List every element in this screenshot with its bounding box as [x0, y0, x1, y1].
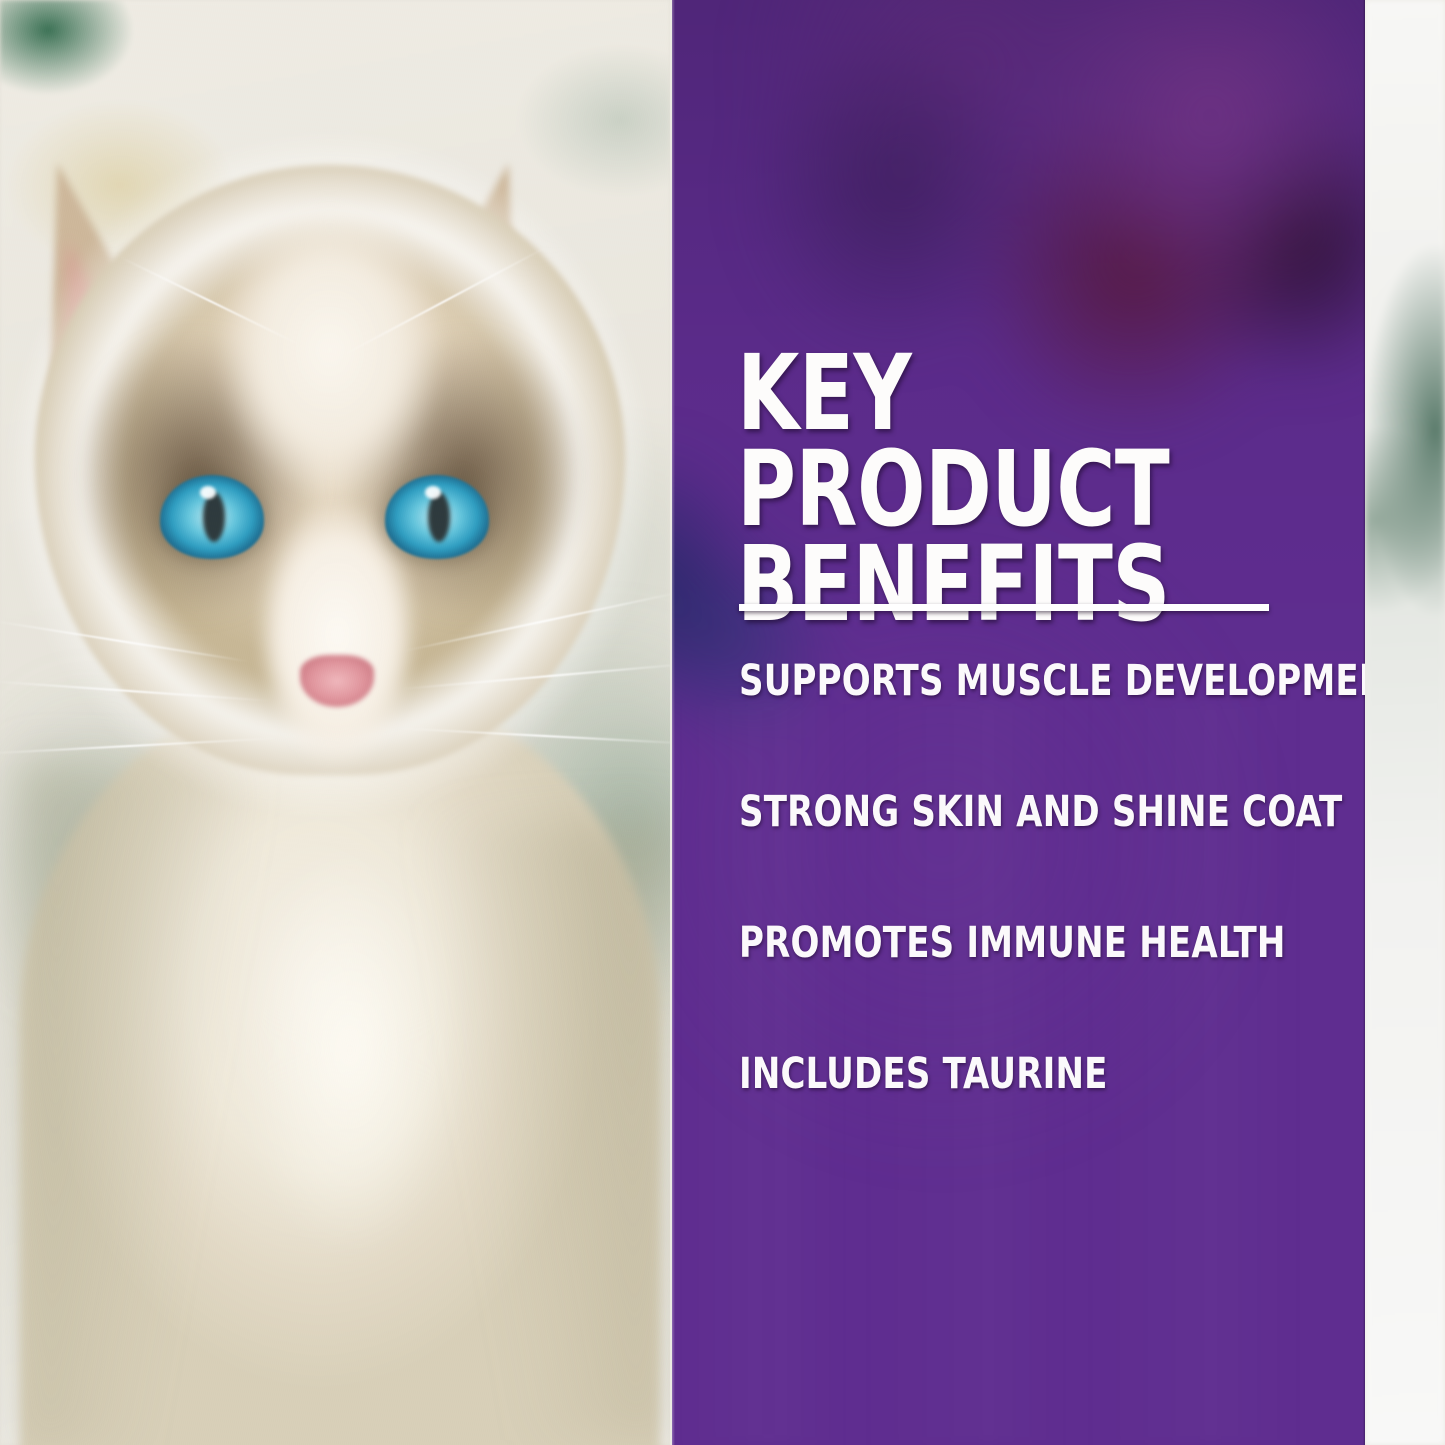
benefits-list: SUPPORTS MUSCLE DEVELOPMENT STRONG SKIN … [739, 660, 1339, 1096]
benefit-item: PROMOTES IMMUNE HEALTH [739, 922, 1267, 965]
benefit-item: INCLUDES TAURINE [739, 1053, 1267, 1096]
product-benefits-banner: KEY PRODUCT BENEFITS SUPPORTS MUSCLE DEV… [0, 0, 1445, 1445]
photo-grain [0, 0, 670, 1445]
benefits-panel: KEY PRODUCT BENEFITS SUPPORTS MUSCLE DEV… [672, 0, 1365, 1445]
benefit-item: SUPPORTS MUSCLE DEVELOPMENT [739, 660, 1267, 703]
panel-left-edge [672, 0, 675, 1445]
panel-right-edge [1363, 0, 1365, 1445]
title-divider [739, 604, 1269, 611]
benefit-item: STRONG SKIN AND SHINE COAT [739, 791, 1267, 834]
panel-content: KEY PRODUCT BENEFITS SUPPORTS MUSCLE DEV… [737, 0, 1337, 1445]
page-title: KEY PRODUCT BENEFITS [737, 346, 1219, 633]
right-background-strip [1365, 0, 1445, 1445]
cat-photo [0, 0, 670, 1445]
